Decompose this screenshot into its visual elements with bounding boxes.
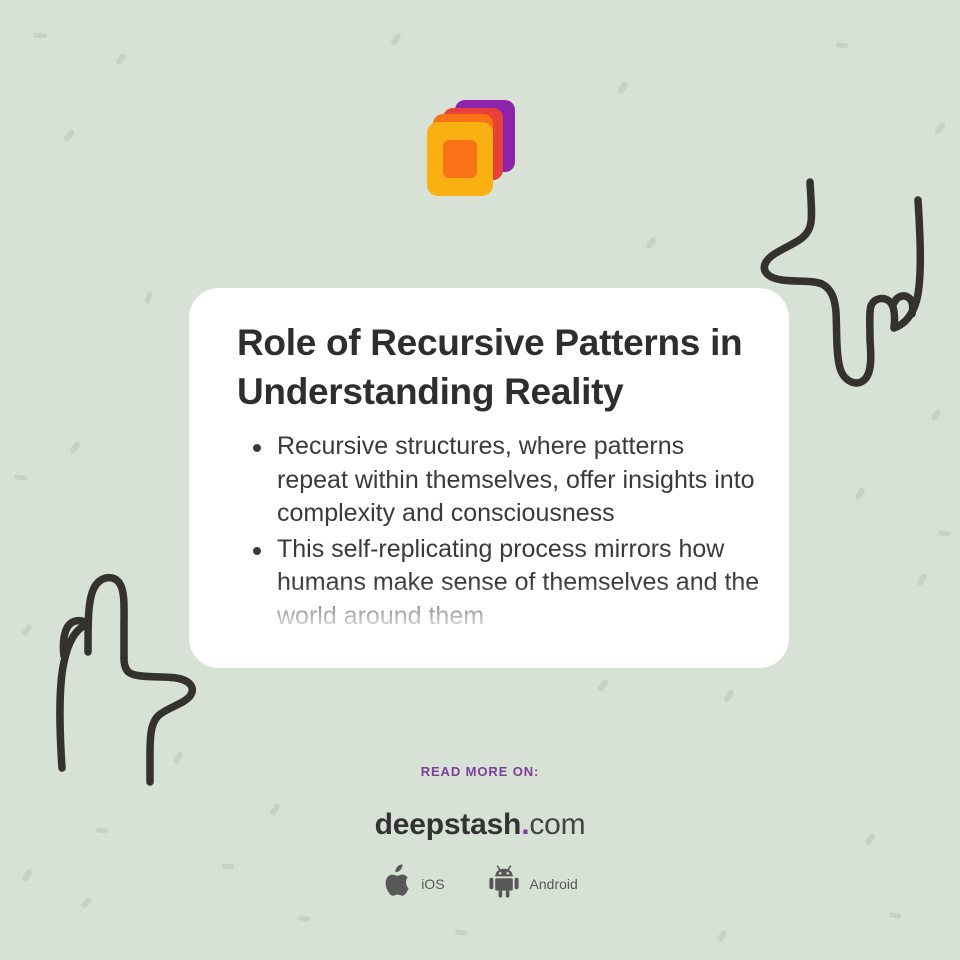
app-store-badges: iOS: [0, 864, 960, 903]
page-title: Role of Recursive Patterns in Understand…: [237, 318, 747, 416]
speckle: [597, 678, 609, 692]
deepstash-logo: [425, 98, 521, 198]
speckle: [144, 292, 153, 305]
speckle: [63, 129, 76, 143]
speckle: [938, 530, 951, 536]
speckle: [836, 43, 848, 49]
speckle: [33, 33, 47, 39]
read-more-label: READ MORE ON:: [0, 764, 960, 779]
footer: READ MORE ON: deepstash.com iOS: [0, 764, 960, 903]
speckle: [889, 912, 902, 919]
speckle: [455, 929, 467, 935]
speckle: [21, 623, 33, 636]
speckle: [115, 52, 127, 65]
wordmark-name: deepstash: [375, 808, 522, 841]
speckle: [916, 572, 928, 586]
card-content: Role of Recursive Patterns in Understand…: [237, 318, 761, 635]
apple-icon: [382, 864, 412, 903]
speckle: [14, 474, 28, 481]
speckle: [716, 929, 728, 942]
list-item: Recursive structures, where patterns rep…: [237, 430, 761, 531]
poster-canvas: Role of Recursive Patterns in Understand…: [0, 0, 960, 960]
android-label: Android: [530, 876, 578, 892]
speckle: [617, 80, 629, 94]
speckle: [390, 32, 402, 46]
speckle: [172, 750, 184, 764]
speckle: [298, 915, 311, 922]
speckle: [930, 408, 942, 421]
speckle: [645, 236, 657, 249]
content-card: Role of Recursive Patterns in Understand…: [189, 288, 789, 668]
ios-badge[interactable]: iOS: [382, 864, 444, 903]
wordmark-tld: com: [529, 808, 585, 841]
ios-label: iOS: [421, 876, 444, 892]
speckle: [934, 121, 946, 135]
insight-bullet-list: Recursive structures, where patterns rep…: [237, 430, 761, 633]
android-icon: [487, 864, 521, 903]
speckle: [854, 486, 866, 500]
pointing-hand-bottom-left-icon: [18, 558, 213, 790]
android-badge[interactable]: Android: [487, 864, 578, 903]
list-item: This self-replicating process mirrors ho…: [237, 533, 761, 634]
speckle: [723, 688, 735, 702]
speckle: [69, 440, 81, 454]
deepstash-wordmark[interactable]: deepstash.com: [0, 808, 960, 842]
